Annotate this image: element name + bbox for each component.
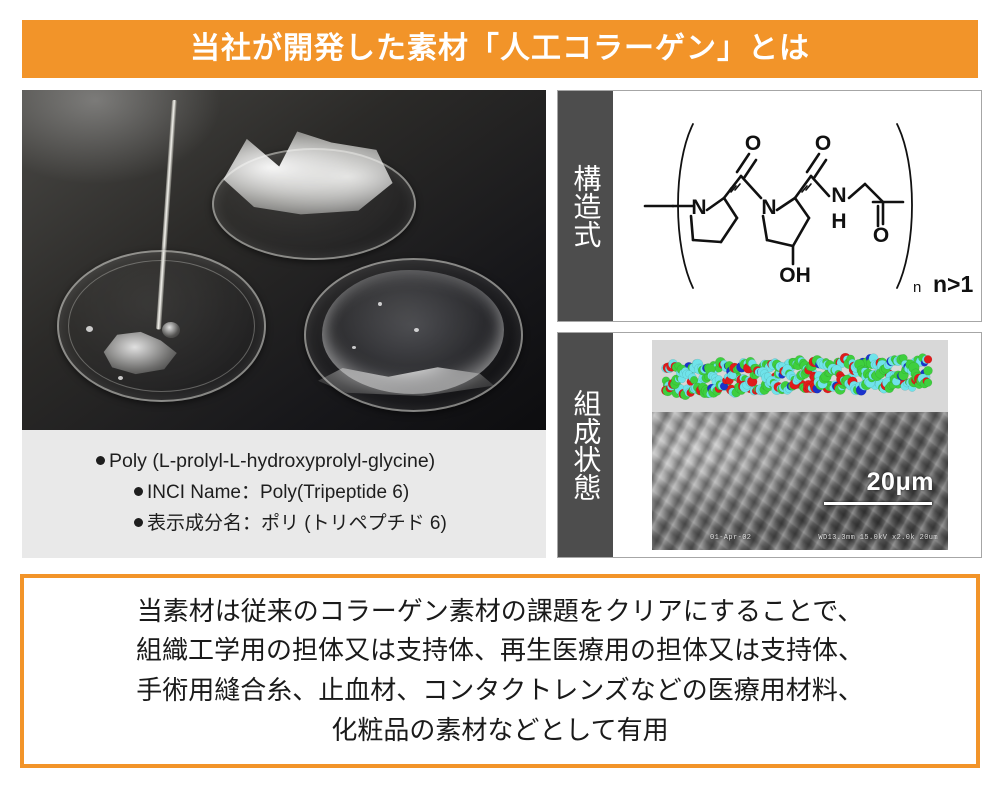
atom-label-o1: O xyxy=(745,132,761,155)
atom-label-n2: N xyxy=(761,196,776,219)
summary-box: 当素材は従来のコラーゲン素材の課題をクリアにすることで、 組織工学用の担体又は支… xyxy=(20,574,980,768)
left-column: Poly (L-prolyl-L-hydroxyprolyl-glycine) … xyxy=(22,90,546,558)
summary-line-3: 手術用縫合糸、止血材、コンタクトレンズなどの医療用材料、 xyxy=(136,671,863,711)
repeat-condition: n>100 xyxy=(933,271,973,297)
title-banner: 当社が開発した素材「人工コラーゲン」とは xyxy=(22,20,978,78)
summary-line-1: 当素材は従来のコラーゲン素材の課題をクリアにすることで、 xyxy=(137,592,863,632)
bullet-icon xyxy=(134,518,143,527)
scale-bar xyxy=(824,502,932,505)
atom-label-oh: OH xyxy=(779,264,811,287)
composition-media: 20μm 01-Apr-02 WD13.3mm 15.0kV x2.0k 20u… xyxy=(652,340,948,550)
sem-meta-right: WD13.3mm 15.0kV x2.0k 20um xyxy=(818,534,938,542)
summary-line-4: 化粧品の素材などとして有用 xyxy=(331,711,668,751)
material-photo xyxy=(22,90,546,430)
composition-state-body: 20μm 01-Apr-02 WD13.3mm 15.0kV x2.0k 20u… xyxy=(613,333,981,557)
bullet-icon xyxy=(134,487,143,496)
atom-label-h: H xyxy=(831,210,846,233)
ingredient-line-3: 表示成分名：ポリ (トリペプチド 6) xyxy=(147,513,447,534)
gel-speck xyxy=(352,346,356,349)
repeat-subscript: n xyxy=(913,279,921,296)
panel-label-composition-state: 組成状態 xyxy=(558,333,613,557)
panel-structural-formula: 構造式 xyxy=(557,90,982,322)
summary-line-2: 組織工学用の担体又は支持体、再生医療用の担体又は支持体、 xyxy=(136,631,864,671)
atom-label-o3: O xyxy=(873,224,889,247)
list-item: Poly (L-prolyl-L-hydroxyprolyl-glycine) xyxy=(22,446,546,478)
atom-label-o2: O xyxy=(815,132,831,155)
ingredient-name-list: Poly (L-prolyl-L-hydroxyprolyl-glycine) … xyxy=(22,430,546,558)
bullet-icon xyxy=(96,456,105,465)
molecule-model-image xyxy=(652,340,948,412)
scale-bar-label: 20μm xyxy=(867,468,934,497)
sem-micrograph-image: 20μm 01-Apr-02 WD13.3mm 15.0kV x2.0k 20u… xyxy=(652,412,948,550)
atom-label-n3: N xyxy=(831,184,846,207)
atom-label-n1: N xyxy=(691,196,706,219)
structural-formula-body: N O N O N H O OH n n>100 xyxy=(613,91,981,321)
panel-composition-state: 組成状態 20μm 01-Apr-02 WD13.3mm 15.0kV x2.0… xyxy=(557,332,982,558)
page-title: 当社が開発した素材「人工コラーゲン」とは xyxy=(190,34,810,64)
panel-label-structural-formula: 構造式 xyxy=(558,91,613,321)
ingredient-line-1: Poly (L-prolyl-L-hydroxyprolyl-glycine) xyxy=(109,450,435,472)
gel-speck xyxy=(118,376,123,380)
list-item: 表示成分名：ポリ (トリペプチド 6) xyxy=(22,509,546,540)
ingredient-line-2: INCI Name：Poly(Tripeptide 6) xyxy=(147,482,409,503)
sem-meta-left: 01-Apr-02 xyxy=(710,534,751,542)
gel-speck xyxy=(86,326,93,332)
chemical-structure-diagram: N O N O N H O OH n n>100 xyxy=(621,106,973,306)
collagen-triple-helix-svg xyxy=(652,340,948,412)
gel-sheet-right xyxy=(322,270,504,394)
gel-speck xyxy=(378,302,382,306)
list-item: INCI Name：Poly(Tripeptide 6) xyxy=(22,478,546,509)
gel-speck xyxy=(414,328,419,332)
